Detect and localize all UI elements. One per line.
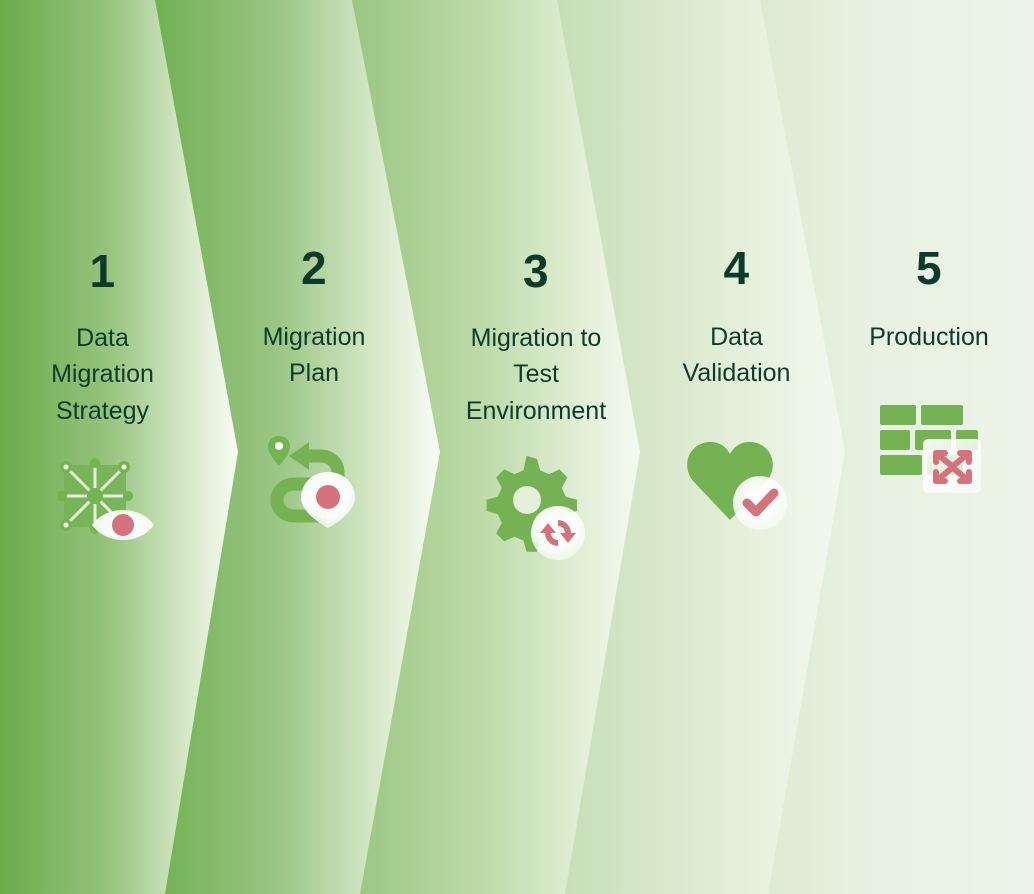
infographic-canvas: 1 Data Migration Strategy — [0, 0, 1034, 894]
background-bands — [0, 0, 1034, 894]
